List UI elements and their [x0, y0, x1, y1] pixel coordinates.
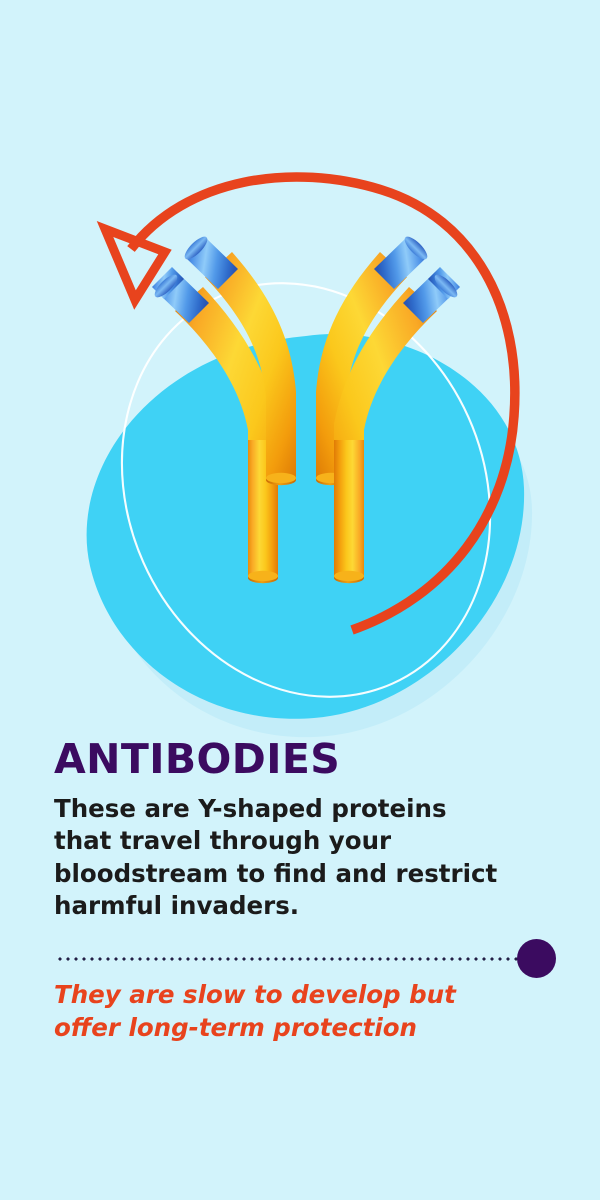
- description-text: These are Y-shaped proteins that travel …: [54, 793, 504, 923]
- dotted-divider-line: [56, 957, 526, 961]
- divider: [54, 940, 556, 980]
- page-title: ANTIBODIES: [54, 738, 554, 781]
- text-block: ANTIBODIES These are Y-shaped proteins t…: [54, 738, 554, 1044]
- antibody-illustration: [0, 0, 600, 740]
- footnote-text: They are slow to develop but offer long-…: [54, 978, 524, 1044]
- divider-end-dot: [517, 939, 556, 978]
- antibodies-infographic-card: ANTIBODIES These are Y-shaped proteins t…: [0, 0, 600, 1200]
